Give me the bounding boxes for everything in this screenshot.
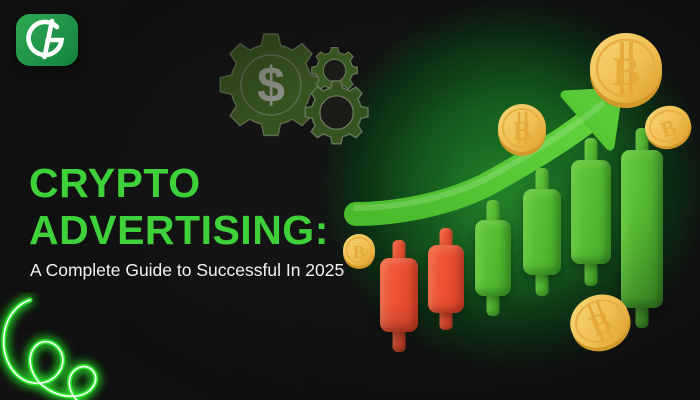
bitcoin-symbol-icon: B (513, 116, 531, 146)
bitcoin-coin-large-top-right: B (584, 28, 668, 112)
bitcoin-coin-mid: B (494, 100, 550, 158)
brand-logo[interactable] (16, 14, 78, 66)
headline-line-2: ADVERTISING: (29, 207, 359, 254)
page-title: CRYPTO ADVERTISING: (29, 160, 359, 254)
bitcoin-symbol-icon: B (613, 49, 640, 94)
g-swirl-logo-icon (22, 16, 72, 64)
neon-green-squiggle-icon (0, 292, 164, 400)
banner-canvas: $ (0, 0, 700, 400)
page-subtitle: A Complete Guide to Successful In 2025 (30, 258, 360, 283)
headline-line-1: CRYPTO (29, 160, 201, 206)
